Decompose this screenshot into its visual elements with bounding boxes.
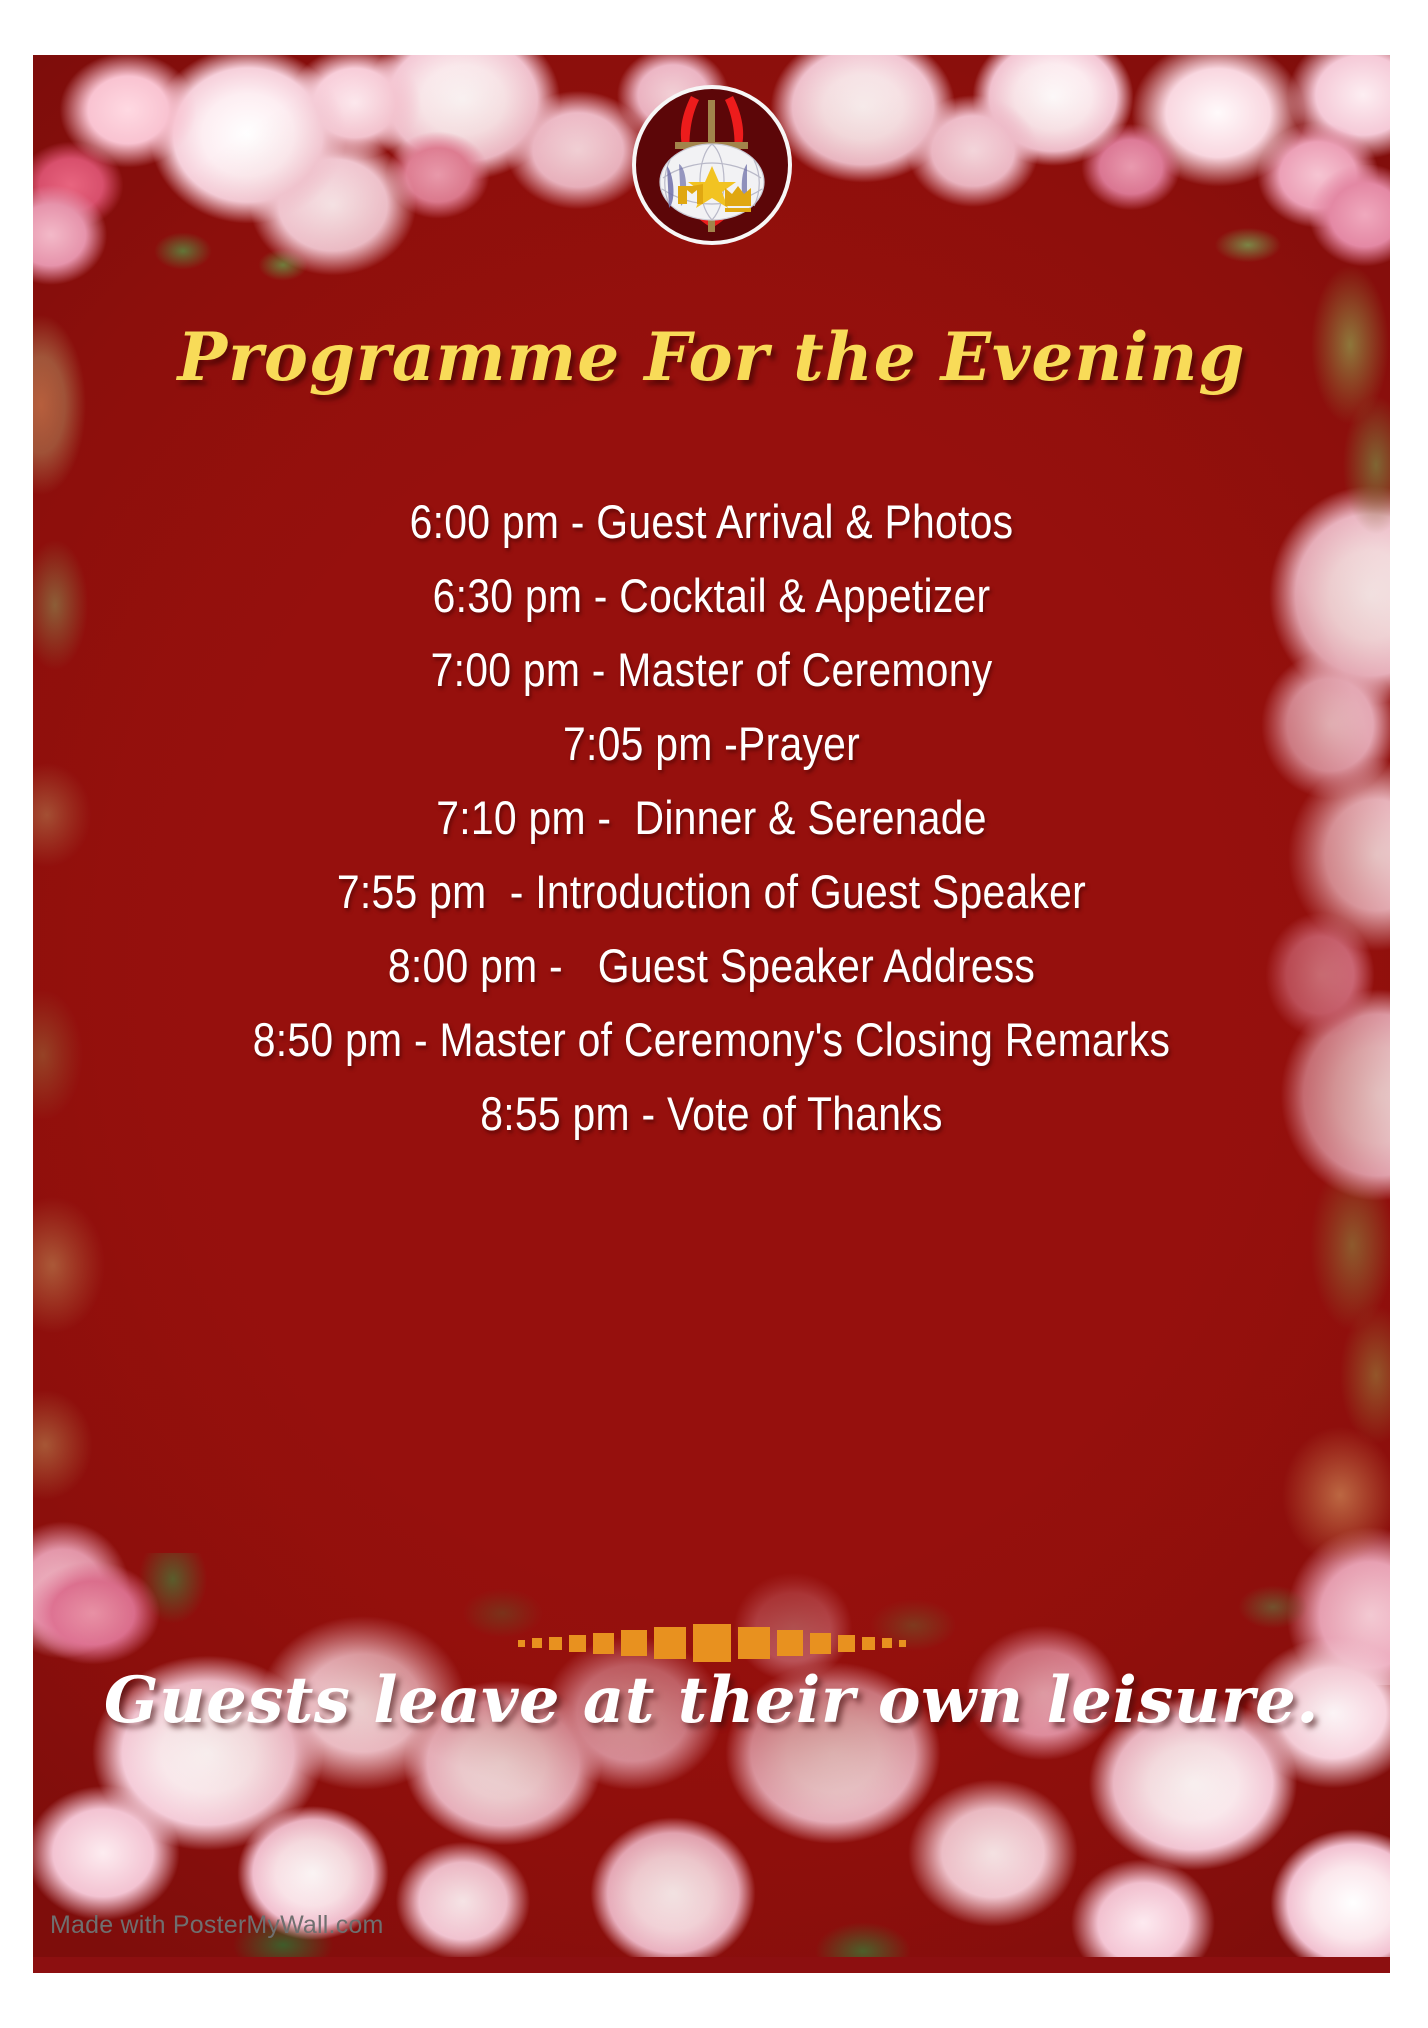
postermywall-watermark: Made with PosterMyWall.com — [50, 1911, 384, 1940]
programme-list-item: 8:00 pm - Guest Speaker Address — [121, 929, 1302, 1003]
divider-square-10 — [810, 1633, 831, 1654]
divider-square-5 — [621, 1630, 647, 1656]
programme-list-item: 8:55 pm - Vote of Thanks — [121, 1077, 1302, 1151]
programme-list-item: 7:10 pm - Dinner & Serenade — [121, 781, 1302, 855]
divider-square-13 — [882, 1638, 892, 1648]
programme-list-item: 7:00 pm - Master of Ceremony — [121, 633, 1302, 707]
divider-square-11 — [838, 1635, 855, 1652]
divider-square-14 — [899, 1640, 906, 1647]
divider-square-2 — [549, 1637, 562, 1650]
poster: Programme For the Evening 6:00 pm - Gues… — [33, 55, 1390, 1973]
divider-square-9 — [777, 1630, 803, 1656]
programme-list: 6:00 pm - Guest Arrival & Photos 6:30 pm… — [33, 485, 1390, 1151]
page-title: Programme For the Evening — [33, 323, 1390, 392]
church-emblem-logo — [629, 82, 795, 248]
programme-list-item: 7:05 pm -Prayer — [121, 707, 1302, 781]
divider-square-1 — [532, 1638, 542, 1648]
programme-list-item: 8:50 pm - Master of Ceremony's Closing R… — [121, 1003, 1302, 1077]
divider-square-7 — [693, 1624, 731, 1662]
divider-square-8 — [738, 1627, 770, 1659]
programme-list-item: 6:30 pm - Cocktail & Appetizer — [121, 559, 1302, 633]
programme-list-item: 6:00 pm - Guest Arrival & Photos — [121, 485, 1302, 559]
divider-square-3 — [569, 1635, 586, 1652]
poster-content: Programme For the Evening 6:00 pm - Gues… — [33, 55, 1390, 1973]
closing-note: Guests leave at their own leisure. — [33, 1667, 1390, 1734]
divider-square-6 — [654, 1627, 686, 1659]
bottom-accent-strip — [33, 1957, 1390, 1973]
programme-list-item: 7:55 pm - Introduction of Guest Speaker — [121, 855, 1302, 929]
divider-square-4 — [593, 1633, 614, 1654]
divider-square-12 — [862, 1637, 875, 1650]
divider-square-0 — [518, 1640, 525, 1647]
